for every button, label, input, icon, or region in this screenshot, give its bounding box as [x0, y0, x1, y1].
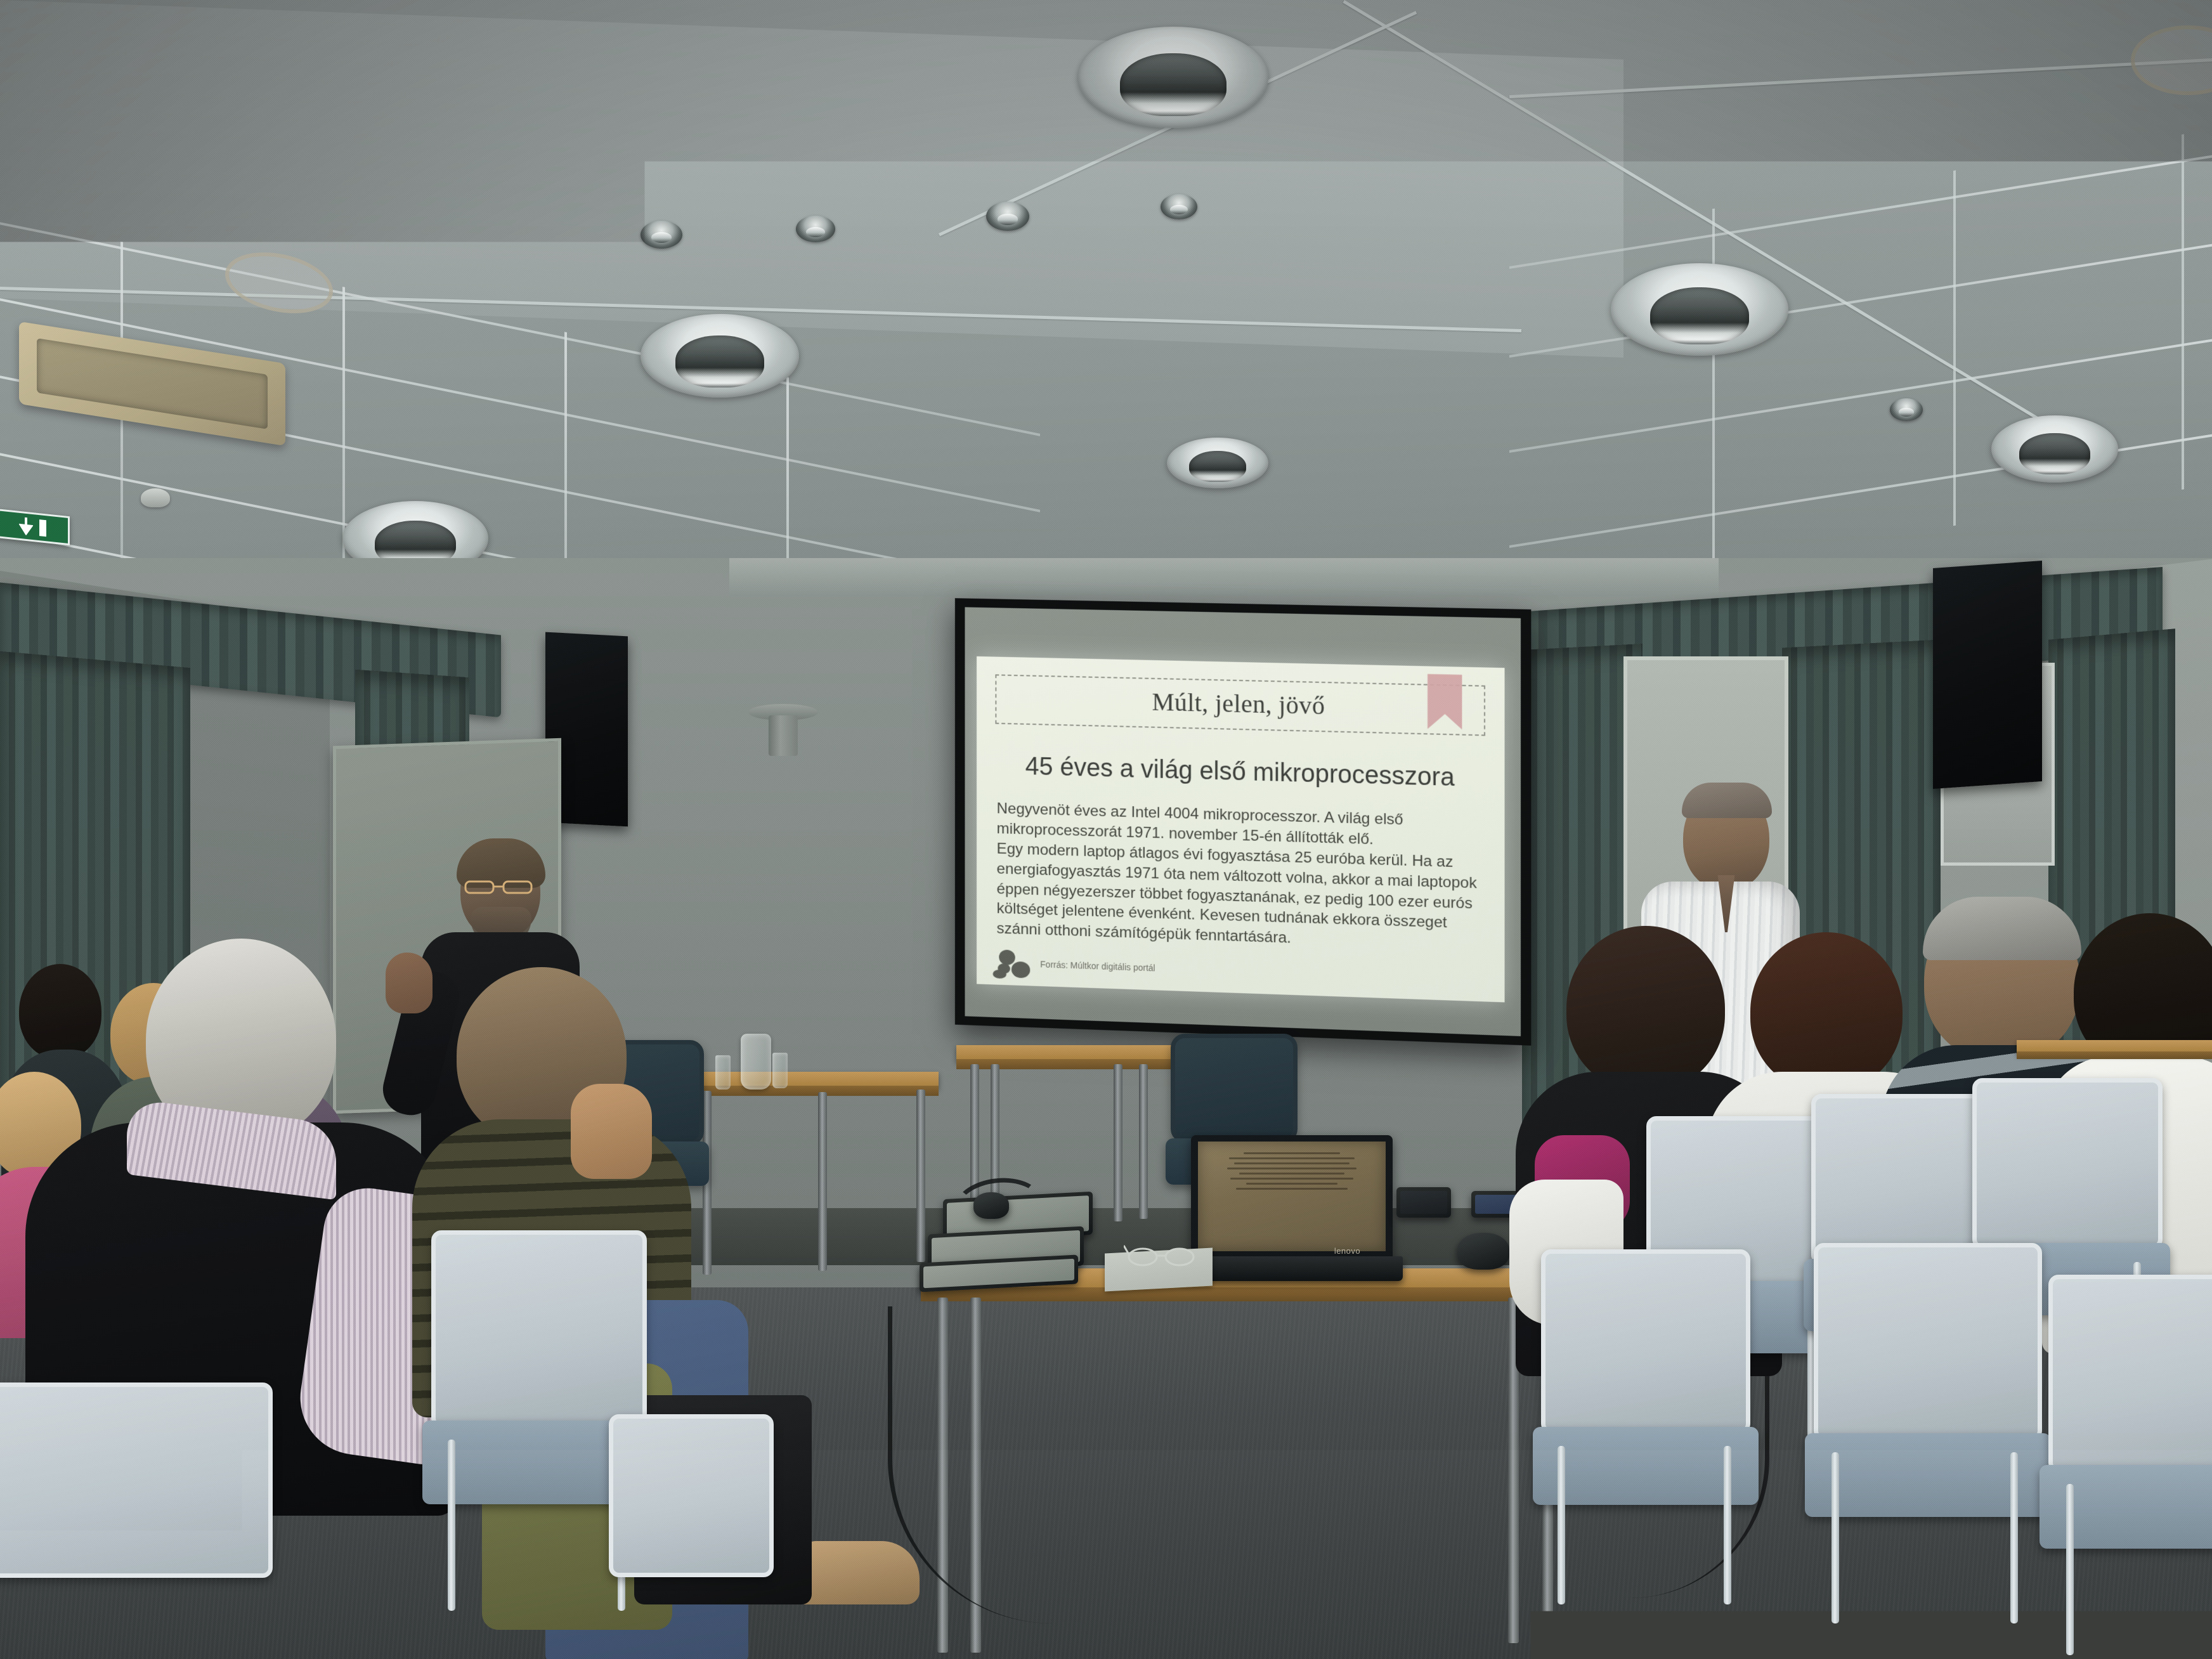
ceiling-downlight — [1078, 27, 1268, 128]
audience-hand-on-neck — [571, 1084, 652, 1179]
sconce-tube — [769, 715, 798, 756]
wall-sconce-uplight — [748, 704, 818, 764]
slide-logo-icon — [998, 949, 1034, 977]
audience-head — [1750, 932, 1903, 1091]
chair-back — [609, 1414, 774, 1577]
wall-soffit — [729, 558, 1719, 596]
chair-back — [1814, 1243, 2042, 1441]
chair-back — [2048, 1275, 2212, 1473]
tablet-screen — [923, 1259, 1074, 1288]
drinking-glass — [772, 1053, 788, 1088]
chair-leg — [1724, 1446, 1731, 1604]
conference-room-photo: Múlt, jelen, jövő 45 éves a világ első m… — [0, 0, 2212, 1659]
slide-source-label: Forrás: Múltkor digitális portál — [1040, 959, 1155, 973]
table-leg — [916, 1090, 925, 1262]
table-apron — [2017, 1051, 2212, 1059]
chair-back — [0, 1382, 273, 1578]
exit-door-glyph — [39, 519, 46, 537]
ceiling-access-hatch — [2131, 25, 2212, 95]
wall-speaker-right — [1933, 561, 2042, 789]
conference-chair[interactable] — [2048, 1275, 2212, 1655]
chair-leg — [2066, 1484, 2074, 1655]
headphone-earcup — [973, 1192, 1009, 1219]
chair-leg — [1558, 1446, 1565, 1604]
conference-chair[interactable] — [609, 1414, 774, 1659]
chair-back — [431, 1230, 647, 1428]
conference-chair[interactable] — [0, 1382, 273, 1659]
chair-leg — [1831, 1452, 1839, 1623]
shoe — [793, 1541, 920, 1604]
chair-back — [1171, 1034, 1298, 1143]
table-leg — [1114, 1064, 1122, 1221]
table-leg — [818, 1092, 827, 1271]
slide-body-text: Negyvenöt éves az Intel 4004 mikroproces… — [993, 799, 1488, 955]
slide-heading: 45 éves a világ első mikroprocesszora — [993, 751, 1488, 793]
projection-screen: Múlt, jelen, jövő 45 éves a világ első m… — [955, 598, 1532, 1046]
presentation-slide: Múlt, jelen, jövő 45 éves a világ első m… — [977, 656, 1505, 1002]
ceiling-downlight — [1167, 438, 1268, 488]
right-side-table — [2017, 1040, 2212, 1059]
ceiling-spotlight — [796, 216, 835, 242]
laptop-screen — [1198, 1142, 1386, 1251]
smoke-detector-icon — [141, 488, 170, 507]
screen-surface: Múlt, jelen, jövő 45 éves a világ első m… — [965, 607, 1521, 1036]
exit-arrow-down-icon — [19, 517, 33, 536]
chair-leg — [448, 1440, 455, 1611]
ceiling-spotlight — [986, 202, 1029, 231]
presenter-glasses-icon — [463, 878, 538, 897]
chair-back — [1541, 1249, 1750, 1434]
laptop-brand-label: lenovo — [1334, 1246, 1360, 1256]
conference-chair[interactable] — [1541, 1249, 1750, 1604]
slide-title: Múlt, jelen, jövő — [1003, 684, 1478, 725]
laptop-lid — [1191, 1135, 1393, 1258]
ceiling-spotlight — [641, 221, 682, 249]
ceiling-downlight — [1611, 263, 1788, 356]
adapter-face — [1400, 1191, 1447, 1214]
audience-head — [1566, 926, 1725, 1091]
computer-mouse[interactable] — [1457, 1233, 1509, 1270]
eyeglasses-icon — [1124, 1238, 1200, 1270]
ceiling-spotlight — [1890, 398, 1923, 421]
guest-hair — [1682, 783, 1772, 818]
laptop[interactable]: lenovo — [1191, 1135, 1393, 1281]
ceiling — [0, 0, 2212, 641]
slide-footer: Forrás: Múltkor digitális portál — [998, 949, 1155, 981]
table-leg — [1139, 1064, 1148, 1219]
power-adapter — [1396, 1187, 1451, 1218]
ceiling-spotlight — [1161, 194, 1197, 219]
chair-back — [1972, 1078, 2163, 1249]
chair-seat — [2040, 1465, 2212, 1549]
conference-chair[interactable] — [1814, 1243, 2042, 1623]
ceiling-downlight — [1991, 415, 2118, 483]
ceiling-downlight — [641, 314, 799, 398]
chair-leg — [2010, 1452, 2018, 1623]
water-carafe — [741, 1034, 771, 1090]
laptop-base — [1181, 1256, 1403, 1281]
slide-title-box: Múlt, jelen, jövő — [996, 675, 1486, 736]
eyeglasses — [1124, 1238, 1200, 1270]
